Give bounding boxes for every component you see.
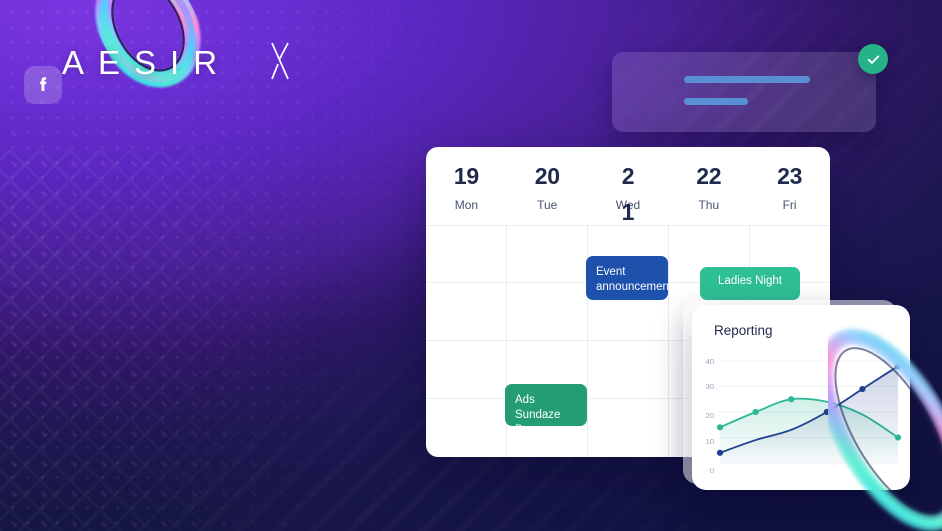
day-name: Tue bbox=[507, 198, 588, 212]
brand-wordmark: AESIR bbox=[62, 44, 231, 82]
calendar-day-mon[interactable]: 19 Mon bbox=[426, 147, 507, 225]
day-number: 23 bbox=[749, 165, 830, 188]
facebook-icon[interactable] bbox=[24, 66, 62, 104]
day-name: Mon bbox=[426, 198, 507, 212]
calendar-event-event-announcement[interactable]: Event announcement bbox=[586, 256, 668, 300]
iridescent-ribbon-decoration bbox=[828, 318, 942, 531]
post-placeholder-line-1 bbox=[684, 76, 810, 83]
calendar-day-wed[interactable]: 2 Wed 1 bbox=[588, 147, 669, 225]
calendar-day-tue[interactable]: 20 Tue bbox=[507, 147, 588, 225]
calendar-event-ads-sundaze-burgers[interactable]: Ads Sundaze Burgers bbox=[505, 384, 587, 426]
brand-logo: AESIR bbox=[62, 0, 302, 104]
reporting-title: Reporting bbox=[714, 323, 766, 339]
page-canvas: AESIR 19 Mon 20 Tue bbox=[0, 0, 942, 531]
day-number-flip-bottom: 1 bbox=[588, 201, 669, 224]
post-placeholder-line-2 bbox=[684, 98, 748, 105]
brand-x-rune-icon bbox=[267, 40, 293, 82]
calendar-column[interactable] bbox=[426, 225, 506, 457]
calendar-day-thu[interactable]: 22 Thu bbox=[668, 147, 749, 225]
day-number-flip-top: 2 bbox=[588, 165, 669, 188]
day-number: 19 bbox=[426, 165, 507, 188]
check-circle-icon bbox=[858, 44, 888, 74]
day-name: Thu bbox=[668, 198, 749, 212]
day-number: 22 bbox=[668, 165, 749, 188]
calendar-event-ladies-night[interactable]: Ladies Night bbox=[700, 267, 800, 300]
calendar-day-fri[interactable]: 23 Fri bbox=[749, 147, 830, 225]
day-name: Fri bbox=[749, 198, 830, 212]
day-number: 20 bbox=[507, 165, 588, 188]
calendar-header: 19 Mon 20 Tue 2 Wed 1 22 Thu 23 Fri bbox=[426, 147, 830, 225]
social-post-card[interactable] bbox=[612, 52, 876, 132]
